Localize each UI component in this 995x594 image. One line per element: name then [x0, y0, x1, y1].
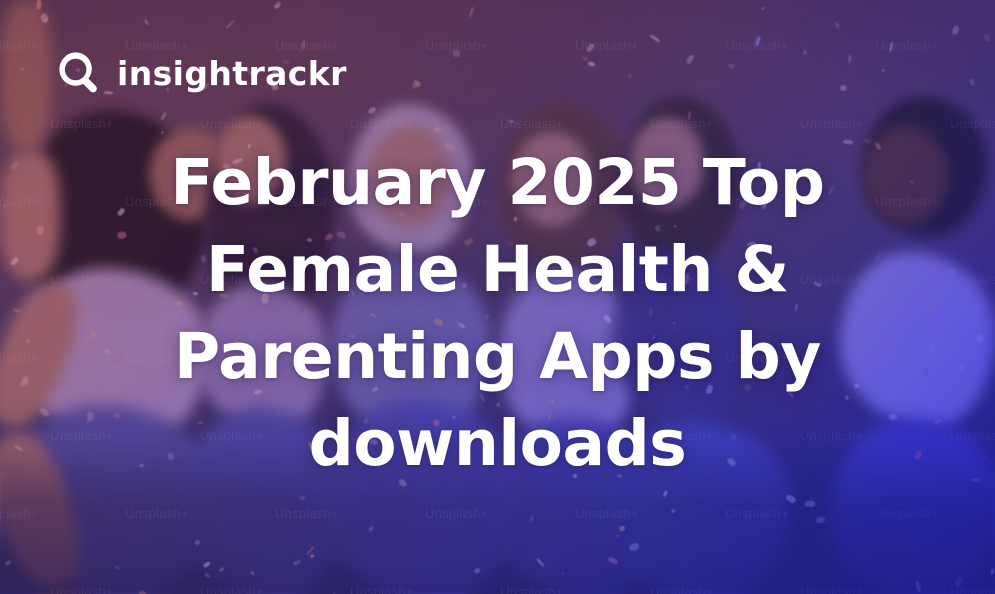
brand-wordmark: insightrackr [117, 57, 347, 90]
headline-line-1: February 2025 Top [150, 140, 845, 227]
headline-line-2: Female Health & [150, 227, 845, 314]
headline-line-3: Parenting Apps by [150, 314, 845, 401]
headline-line-4: downloads [150, 401, 845, 488]
promo-banner: Unsplash+Unsplash+Unsplash+Unsplash+Unsp… [0, 0, 995, 594]
brand-logo[interactable]: insightrackr [57, 50, 347, 96]
photo-figure-1-arm [0, 0, 52, 150]
magnifier-q-icon [57, 50, 103, 96]
headline-title: February 2025 Top Female Health & Parent… [0, 140, 995, 488]
